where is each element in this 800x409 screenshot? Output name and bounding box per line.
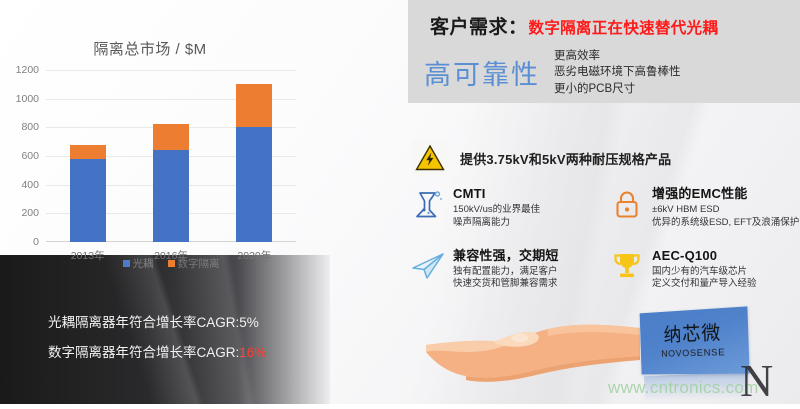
chart-legend-label: 光耦 — [133, 256, 154, 271]
feature-aec-q100: AEC-Q100 国内少有的汽车级芯片 定义交付和量产导入经验 — [609, 248, 800, 292]
flask-icon — [410, 186, 446, 222]
header-bullet-1: 更高效率 — [554, 48, 681, 64]
header-bullet-2: 恶劣电磁环境下高鲁棒性 — [554, 64, 681, 80]
feature-cmti-title: CMTI — [453, 187, 540, 202]
cagr-optocoupler-label: 光耦隔离器年符合增长率CAGR: — [48, 315, 239, 330]
chart-legend-label: 数字隔离 — [178, 256, 220, 271]
watermark-monogram: N — [740, 358, 773, 404]
feature-aec-q100-line-2: 定义交付和量产导入经验 — [652, 278, 757, 291]
feature-cmti-line-1: 150kV/us的业界最佳 — [453, 204, 540, 217]
header-big-claim: 高可靠性 — [424, 53, 540, 92]
feature-emc-text: 增强的EMC性能 ±6kV HBM ESD 优异的系统级ESD, EFT及浪涌保… — [652, 186, 799, 230]
feature-compatibility: 兼容性强，交期短 独有配置能力，满足客户 快速交货和管脚兼容需求 — [410, 248, 601, 292]
high-voltage-text: 提供3.75kV和5kV两种耐压规格产品 — [460, 149, 671, 168]
feature-cmti-line-2: 噪声隔离能力 — [453, 217, 540, 230]
market-chart: 隔离总市场 / $M 1200100080060040020002013年201… — [0, 38, 340, 288]
header-bullet-3: 更小的PCB尺寸 — [554, 81, 681, 97]
brand-name-en: NOVOSENSE — [661, 347, 725, 360]
chart-bar-group[interactable] — [153, 70, 189, 242]
feature-compatibility-title: 兼容性强，交期短 — [453, 249, 559, 264]
feature-aec-q100-title: AEC-Q100 — [652, 249, 757, 264]
brand-logo-card: 纳芯微 NOVOSENSE — [640, 306, 750, 374]
chart-y-tick: 800 — [21, 121, 39, 133]
feature-emc-line-1: ±6kV HBM ESD — [652, 204, 799, 217]
chart-legend-swatch — [168, 260, 175, 267]
cagr-digital: 数字隔离器年符合增长率CAGR:16% — [48, 341, 266, 361]
chart-title: 隔离总市场 / $M — [0, 38, 300, 59]
chart-y-tick: 1200 — [16, 64, 39, 76]
paper-plane-icon — [410, 248, 446, 284]
header-title: 客户需求： 数字隔离正在快速替代光耦 — [430, 12, 718, 39]
feature-emc-title: 增强的EMC性能 — [652, 187, 799, 202]
slide-canvas: 隔离总市场 / $M 1200100080060040020002013年201… — [0, 0, 800, 404]
header-band: 客户需求： 数字隔离正在快速替代光耦 高可靠性 更高效率恶劣电磁环境下高鲁棒性更… — [408, 0, 800, 103]
feature-compatibility-line-2: 快速交货和管脚兼容需求 — [453, 278, 559, 291]
chart-bar-segment[interactable] — [236, 127, 272, 242]
cagr-optocoupler-value: 5% — [239, 315, 259, 330]
chart-legend: 光耦数字隔离 — [46, 256, 296, 271]
chart-bar-segment[interactable] — [153, 124, 189, 149]
chart-bar-segment[interactable] — [153, 150, 189, 242]
header-body: 高可靠性 更高效率恶劣电磁环境下高鲁棒性更小的PCB尺寸 — [424, 48, 681, 97]
chart-y-tick: 1000 — [16, 93, 39, 105]
feature-emc-line-2: 优异的系统级ESD, EFT及浪涌保护 — [652, 217, 799, 230]
cagr-optocoupler: 光耦隔离器年符合增长率CAGR:5% — [48, 311, 259, 331]
trophy-icon — [609, 248, 645, 284]
cagr-digital-value: 16% — [239, 345, 266, 360]
padlock-icon — [609, 186, 645, 222]
cagr-digital-label: 数字隔离器年符合增长率CAGR: — [48, 345, 239, 360]
chart-plot-area: 1200100080060040020002013年2016年2020年 — [46, 70, 296, 242]
chart-bar-group[interactable] — [70, 70, 106, 242]
feature-compatibility-line-1: 独有配置能力，满足客户 — [453, 266, 559, 279]
chart-legend-item[interactable]: 数字隔离 — [168, 256, 220, 271]
header-title-emphasis: 数字隔离正在快速替代光耦 — [529, 16, 719, 38]
chart-y-tick: 200 — [21, 207, 39, 219]
feature-emc: 增强的EMC性能 ±6kV HBM ESD 优异的系统级ESD, EFT及浪涌保… — [609, 186, 800, 230]
chart-y-tick: 400 — [21, 179, 39, 191]
chart-legend-item[interactable]: 光耦 — [123, 256, 154, 271]
chart-legend-swatch — [123, 260, 130, 267]
chart-x-tick: 2020年 — [204, 248, 304, 263]
feature-aec-q100-text: AEC-Q100 国内少有的汽车级芯片 定义交付和量产导入经验 — [652, 248, 757, 292]
chart-y-tick: 0 — [33, 236, 39, 248]
header-bullet-list: 更高效率恶劣电磁环境下高鲁棒性更小的PCB尺寸 — [554, 48, 681, 97]
chart-bar-group[interactable] — [236, 70, 272, 242]
high-voltage-row: 提供3.75kV和5kV两种耐压规格产品 — [412, 140, 671, 176]
feature-grid: CMTI 150kV/us的业界最佳 噪声隔离能力 增强的EMC性能 ±6kV … — [410, 186, 800, 291]
chart-bar-segment[interactable] — [70, 145, 106, 159]
feature-cmti: CMTI 150kV/us的业界最佳 噪声隔离能力 — [410, 186, 601, 230]
feature-aec-q100-line-1: 国内少有的汽车级芯片 — [652, 266, 757, 279]
feature-compatibility-text: 兼容性强，交期短 独有配置能力，满足客户 快速交货和管脚兼容需求 — [453, 248, 559, 292]
chart-y-tick: 600 — [21, 150, 39, 162]
watermark-url: www.cntronics.com — [608, 378, 759, 398]
feature-cmti-text: CMTI 150kV/us的业界最佳 噪声隔离能力 — [453, 186, 540, 230]
header-title-label: 客户需求： — [430, 12, 528, 39]
brand-name-cn: 纳芯微 — [663, 323, 721, 344]
chart-bar-segment[interactable] — [70, 159, 106, 242]
high-voltage-warning-icon — [412, 140, 448, 176]
chart-bar-segment[interactable] — [236, 84, 272, 127]
